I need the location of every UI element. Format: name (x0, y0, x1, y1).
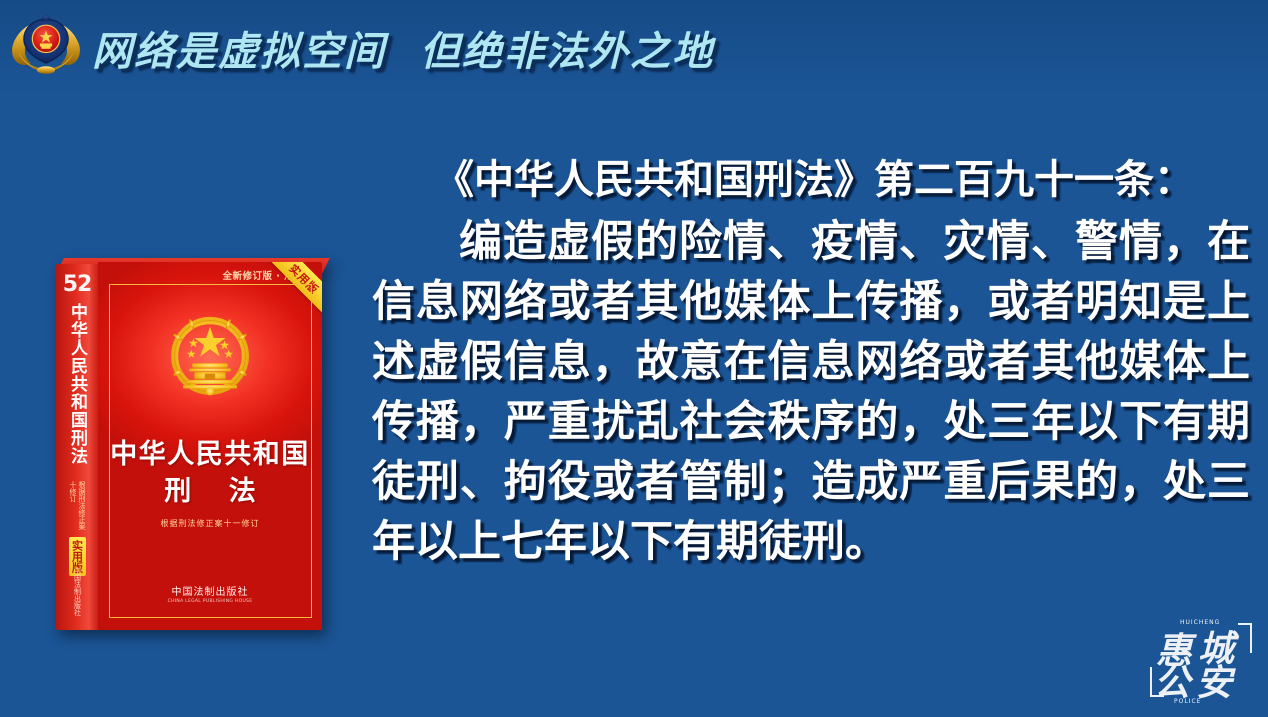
watermark-char-4: 安 (1196, 665, 1232, 701)
book-cover-title-group: 中华人民共和国 刑 法 根据刑法修正案十一修订 (98, 438, 322, 529)
watermark-bracket-top-right (1238, 623, 1252, 653)
china-national-emblem-icon (158, 306, 262, 410)
book-spine-subtitle: 根据刑法修正案十修订 (68, 481, 86, 533)
book-spine-number: 52 (63, 272, 92, 297)
law-article-body: 编造虚假的险情、疫情、灾情、警情，在信息网络或者其他媒体上传播，或者明知是上述虚… (372, 212, 1250, 572)
book-front-cover: 全新修订版 · 刑 法 实用版 (98, 262, 322, 630)
book-cover-publisher-zh: 中国法制出版社 (172, 587, 249, 598)
book-cover-publisher-en: CHINA LEGAL PUBLISHING HOUSE (98, 599, 322, 604)
header-bar: 网络是虚拟空间 但绝非法外之地 (0, 0, 1268, 96)
watermark-chars: HUICHENG 惠 城 公 安 POLICE (1150, 611, 1254, 707)
criminal-law-book-image: 52 中华人民共和国刑法 根据刑法修正案十修订 实用版 中国法制出版社 全新修订… (56, 258, 322, 630)
header-headline: 网络是虚拟空间 但绝非法外之地 (92, 12, 714, 84)
book-cover-subtitle: 根据刑法修正案十一修订 (98, 518, 322, 529)
china-police-badge-icon (8, 10, 84, 86)
law-body-text: 编造虚假的险情、疫情、灾情、警情，在信息网络或者其他媒体上传播，或者明知是上述虚… (372, 217, 1250, 567)
book-spine-title: 中华人民共和国刑法 (67, 303, 87, 479)
book-cover-title-line2: 刑 法 (98, 472, 322, 512)
headline-part1: 网络是虚拟空间 (92, 19, 386, 77)
book-cover-publisher: 中国法制出版社 CHINA LEGAL PUBLISHING HOUSE (98, 583, 322, 604)
watermark-char-3: 公 (1154, 665, 1190, 701)
huicheng-police-watermark: HUICHENG 惠 城 公 安 POLICE (1150, 611, 1254, 707)
watermark-tiny-bottom: POLICE (1174, 698, 1201, 705)
watermark-tiny-top: HUICHENG (1180, 619, 1220, 626)
book-spine-publisher: 中国法制出版社 (73, 567, 82, 616)
law-article-title: 《中华人民共和国刑法》第二百九十一条： (372, 152, 1250, 208)
book-cover-title-line1: 中华人民共和国 (98, 438, 322, 472)
slide-canvas: 网络是虚拟空间 但绝非法外之地 《中华人民共和国刑法》第二百九十一条： 编造虚假… (0, 0, 1268, 717)
book-spine: 52 中华人民共和国刑法 根据刑法修正案十修订 实用版 中国法制出版社 (56, 264, 98, 630)
headline-part2: 但绝非法外之地 (420, 19, 714, 77)
law-text-block: 《中华人民共和国刑法》第二百九十一条： 编造虚假的险情、疫情、灾情、警情，在信息… (372, 152, 1250, 572)
